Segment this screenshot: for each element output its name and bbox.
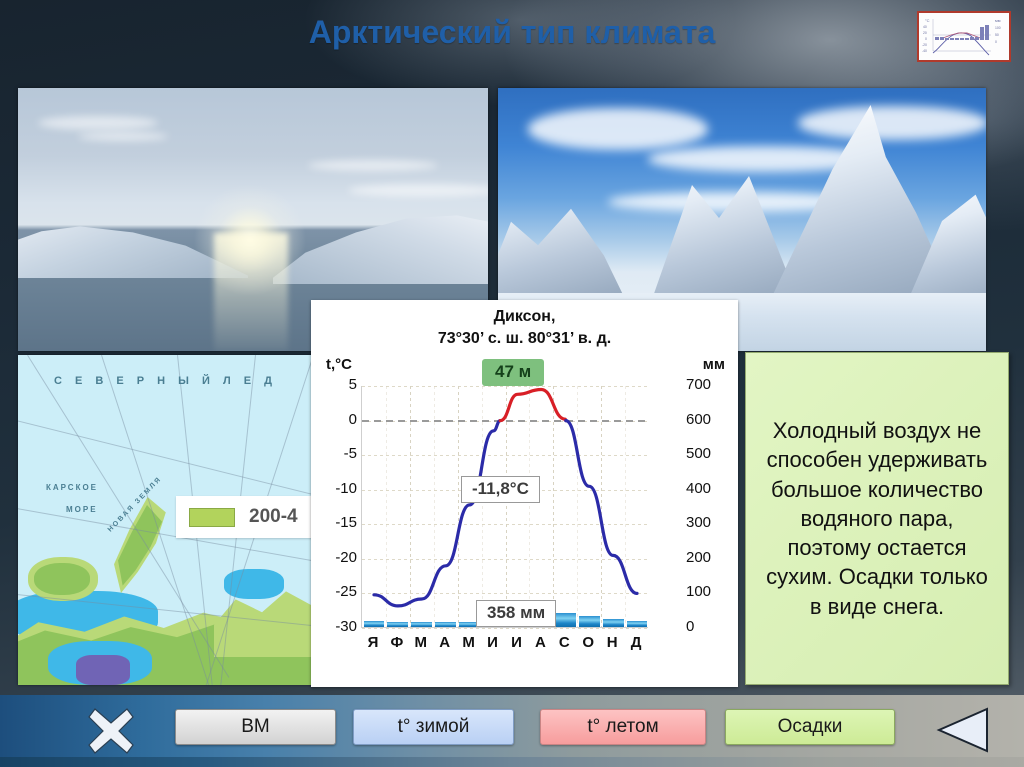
annual-precip-badge: 358 мм [476,600,556,627]
climogram-panel: Диксон, 73°30’ с. ш. 80°31’ в. д. t,°C м… [311,300,738,687]
right-axis-tick: 400 [686,480,732,497]
svg-text:50: 50 [995,33,999,37]
arctic-map-photo: С Е В Е Р Н Ы Й Л Е Д КАРСКОЕ МОРЕ НОВАЯ… [18,355,315,685]
temp-winter-button[interactable]: t° зимой [353,709,514,745]
right-axis-tick: 600 [686,411,732,428]
map-legend: 200-4 [176,496,315,538]
svg-text:0: 0 [995,40,997,44]
month-label: Я [361,634,385,651]
previous-slide-button[interactable] [935,707,991,753]
right-axis-tick: 700 [686,376,732,393]
left-axis-tick: 5 [315,376,357,393]
climogram-body: t,°C мм 47 м -11,8°C 358 мм 50-5-10-15-2… [311,348,738,678]
slide-canvas: Арктический тип климата °C мм 40 20 0 -2… [0,0,1024,767]
left-axis-tick: -20 [315,549,357,566]
left-axis-label: t,°C [326,356,352,373]
close-icon [85,705,137,757]
triangle-left-icon [935,707,991,753]
right-axis-tick: 0 [686,618,732,635]
svg-text:0: 0 [925,37,927,41]
svg-text:-20: -20 [922,43,927,47]
left-axis-tick: -15 [315,514,357,531]
explanation-note: Холодный воздух не способен удерживать б… [745,352,1009,685]
right-axis-label: мм [703,356,725,373]
svg-text:-40: -40 [922,49,927,53]
map-legend-value: 200-4 [249,506,298,528]
page-title: Арктический тип климата [0,14,1024,51]
month-label: А [433,634,457,651]
right-axis-tick: 100 [686,583,732,600]
right-axis-tick: 200 [686,549,732,566]
temp-summer-button[interactable]: t° летом [540,709,706,745]
month-label: О [576,634,600,651]
right-axis-tick: 500 [686,445,732,462]
month-label: Н [600,634,624,651]
svg-text:°C: °C [925,18,930,23]
climogram-title: Диксон, [311,308,738,326]
explanation-note-text: Холодный воздух не способен удерживать б… [746,416,1008,621]
precipitation-button[interactable]: Осадки [725,709,895,745]
right-axis-tick: 300 [686,514,732,531]
left-axis-tick: -30 [315,618,357,635]
month-label: А [528,634,552,651]
climogram-subtitle: 73°30’ с. ш. 80°31’ в. д. [311,330,738,348]
month-label: И [504,634,528,651]
chart-gridline-h [362,628,648,629]
map-label-sea: МОРЕ [66,505,98,514]
month-label: Д [624,634,648,651]
month-label: С [552,634,576,651]
elevation-badge: 47 м [482,359,544,386]
month-label: М [457,634,481,651]
chart-plot-area [361,386,648,628]
svg-text:20: 20 [923,31,927,35]
month-label: И [481,634,505,651]
month-label: М [409,634,433,651]
temperature-curve [362,386,649,628]
climogram-thumbnail[interactable]: °C мм 40 20 0 -20 -40 100 50 0 [917,11,1011,62]
close-button[interactable] [85,705,137,757]
mean-temp-badge: -11,8°C [461,476,540,503]
bottom-toolbar: ВМ t° зимой t° летом Осадки [0,695,1024,767]
month-label: Ф [385,634,409,651]
map-label-kara-sea: КАРСКОЕ [46,483,98,492]
map-label-arctic-ocean: С Е В Е Р Н Ы Й Л Е Д [54,375,277,387]
left-axis-tick: -25 [315,583,357,600]
thumbnail-chart-icon: °C мм 40 20 0 -20 -40 100 50 0 [919,13,1009,60]
svg-text:40: 40 [923,25,927,29]
left-axis-tick: 0 [315,411,357,428]
left-axis-tick: -10 [315,480,357,497]
svg-text:100: 100 [995,26,1001,30]
bm-button[interactable]: ВМ [175,709,336,745]
svg-text:мм: мм [995,18,1001,23]
left-axis-tick: -5 [315,445,357,462]
map-legend-swatch [189,508,235,527]
